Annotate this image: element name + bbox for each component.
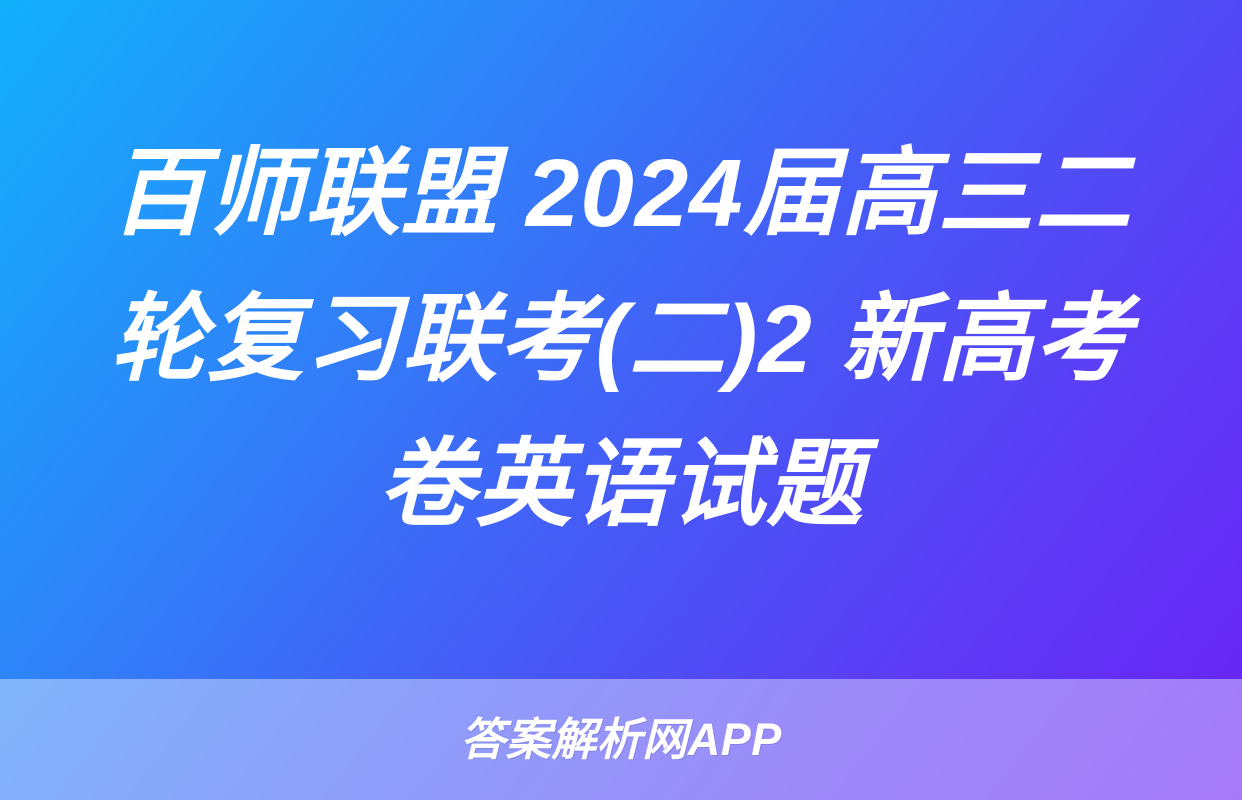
share-card: 百师联盟 2024届高三二 轮复习联考(二)2 新高考 卷英语试题 答案解析网A… bbox=[0, 0, 1242, 800]
page-title: 百师联盟 2024届高三二 轮复习联考(二)2 新高考 卷英语试题 bbox=[76, 121, 1166, 559]
title-block: 百师联盟 2024届高三二 轮复习联考(二)2 新高考 卷英语试题 bbox=[0, 0, 1242, 679]
app-brand-label: 答案解析网APP bbox=[460, 717, 782, 762]
footer-band: 答案解析网APP bbox=[0, 679, 1242, 800]
